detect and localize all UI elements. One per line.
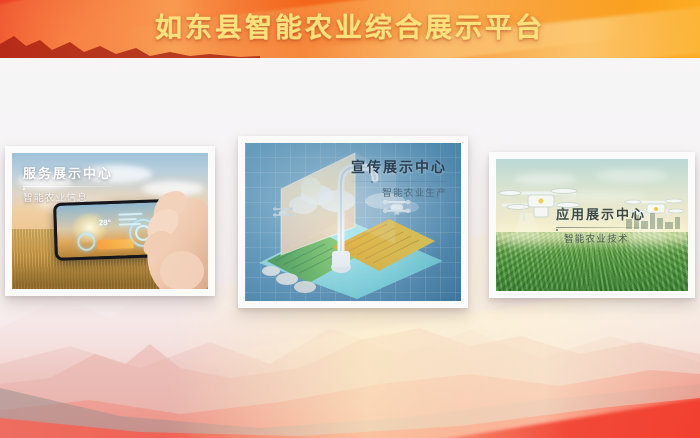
hud-temperature: 28° [99, 218, 111, 227]
hud-data-panel [97, 239, 133, 249]
header-banner: 如东县智能农业综合展示平台 [0, 0, 700, 58]
caption-dot [23, 188, 25, 190]
card-promotion-display-center[interactable]: 宣传展示中心 智能农业生产 [238, 136, 468, 308]
cloud-icon [596, 169, 668, 182]
card-service-image: 28° [12, 153, 208, 289]
caption-divider [23, 186, 113, 187]
page-title: 如东县智能农业综合展示平台 [0, 6, 700, 50]
caption-divider [556, 227, 646, 228]
card-application-caption: 应用展示中心 智能农业技术 [556, 207, 646, 245]
caption-dot [371, 181, 373, 183]
hand-holding-phone [130, 175, 208, 289]
card-promotion-caption: 宣传展示中心 智能农业生产 [351, 159, 447, 199]
card-promotion-title: 宣传展示中心 [351, 159, 447, 177]
hud-ring-icon [77, 233, 96, 252]
card-application-image: 应用展示中心 智能农业技术 [496, 159, 688, 291]
card-promotion-image: 宣传展示中心 智能农业生产 [245, 143, 461, 301]
card-service-title: 服务展示中心 [23, 166, 113, 182]
card-service-subtitle: 智能农业信息 [23, 190, 113, 204]
card-application-title: 应用展示中心 [556, 207, 646, 223]
card-application-display-center[interactable]: 应用展示中心 智能农业技术 [489, 152, 695, 298]
caption-divider [351, 181, 447, 182]
card-promotion-subtitle: 智能农业生产 [351, 185, 447, 199]
app-stage: 如东县智能农业综合展示平台 [0, 0, 700, 438]
card-application-subtitle: 智能农业技术 [556, 231, 646, 245]
card-service-display-center[interactable]: 28° [5, 146, 215, 296]
card-service-caption: 服务展示中心 智能农业信息 [23, 166, 113, 204]
caption-dot [556, 229, 558, 231]
